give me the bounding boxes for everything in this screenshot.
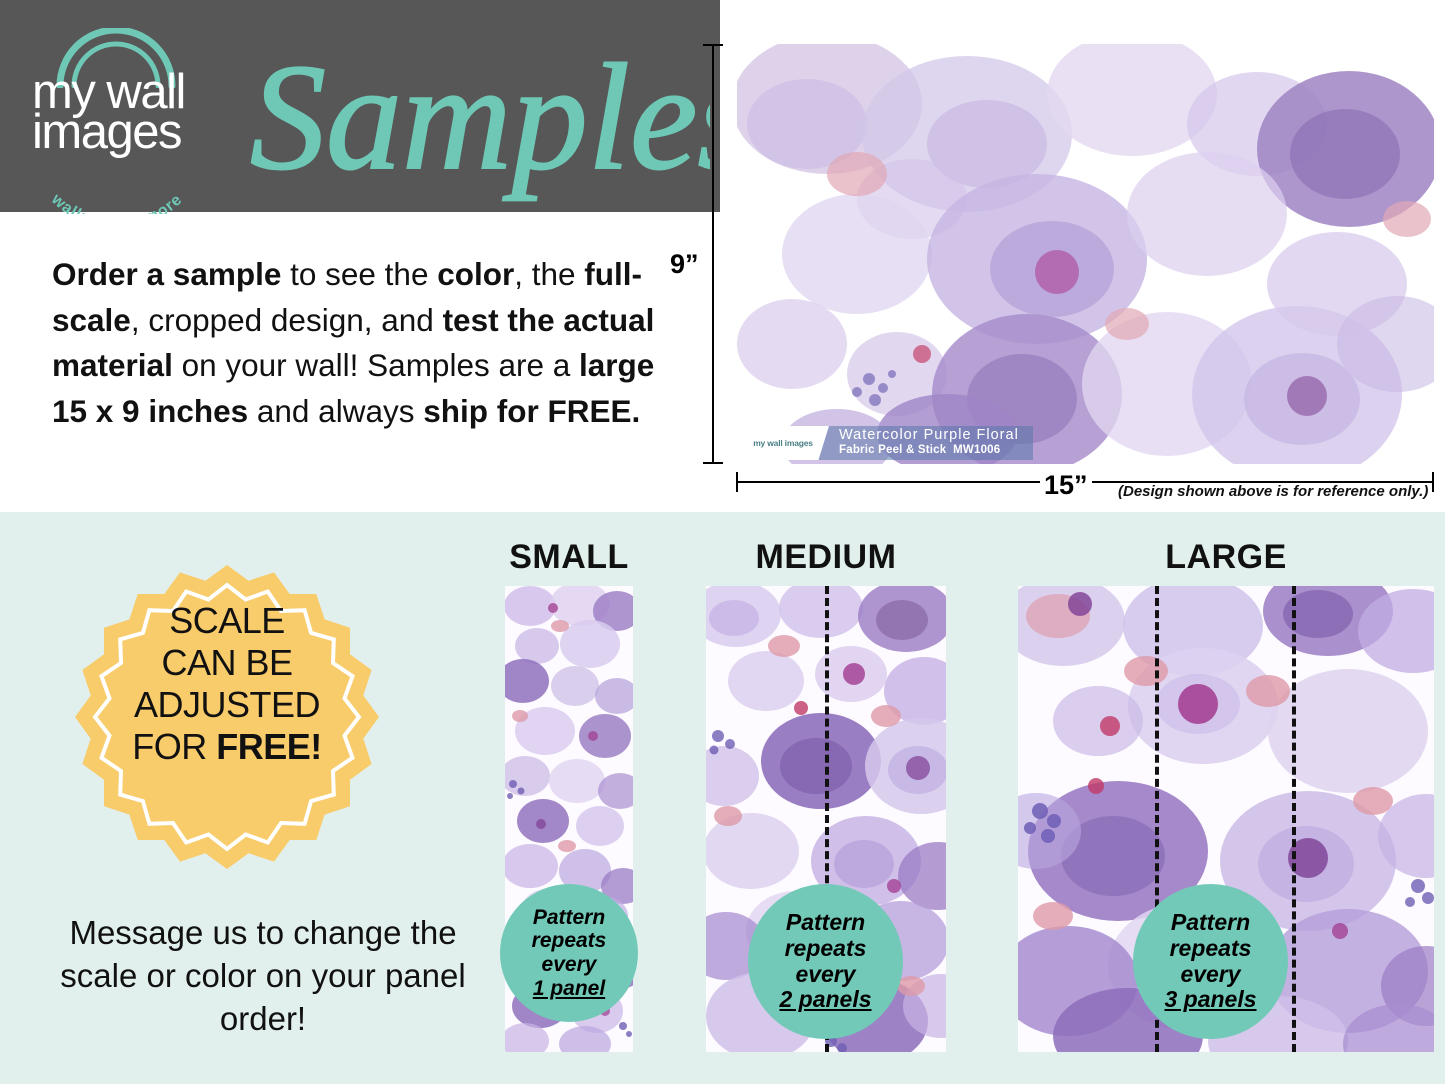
repeat-badge-small-line3: every xyxy=(542,953,597,977)
repeat-badge-small-value: 1 panel xyxy=(533,977,605,1001)
samples-script-text: Samples xyxy=(250,33,710,201)
repeat-badge-small-line1: Pattern xyxy=(533,906,605,930)
repeat-badge-large-line2: repeats xyxy=(1170,936,1252,962)
scale-adjust-badge-text: SCALE CAN BE ADJUSTED FOR FREE! xyxy=(72,600,382,768)
burst-line-4: FOR FREE! xyxy=(72,726,382,768)
width-dimension-cap-left xyxy=(736,472,738,492)
repeat-badge-medium: Pattern repeats every 2 panels xyxy=(748,884,903,1039)
copy-text-3: , cropped design, and xyxy=(131,302,443,338)
product-label-text: Watercolor Purple Floral Fabric Peel & S… xyxy=(829,426,1019,460)
repeat-badge-large-line3: every xyxy=(1180,962,1240,988)
brand-tagline: wallpaper + more xyxy=(22,174,212,214)
header-banner: my wall images wallpaper + more Samples xyxy=(0,0,720,212)
repeat-badge-large-value: 3 panels xyxy=(1164,987,1256,1013)
burst-line-2: CAN BE xyxy=(72,642,382,684)
panel-divider-large-2 xyxy=(1292,586,1296,1052)
size-heading-small: SMALL xyxy=(505,538,633,577)
height-dimension-cap-top xyxy=(703,44,723,46)
repeat-badge-medium-value: 2 panels xyxy=(779,987,871,1013)
product-name: Watercolor Purple Floral xyxy=(839,428,1019,443)
repeat-badge-medium-line2: repeats xyxy=(785,936,867,962)
sample-preview: my wall images Watercolor Purple Floral … xyxy=(737,44,1434,464)
message-us-text: Message us to change the scale or color … xyxy=(38,912,488,1041)
burst-line-4-plain: FOR xyxy=(132,726,216,767)
product-sku: MW1006 xyxy=(953,444,1000,456)
sample-product-label: my wall images Watercolor Purple Floral … xyxy=(741,426,1033,460)
size-heading-large: LARGE xyxy=(1018,538,1434,577)
copy-text-1: to see the xyxy=(281,256,437,292)
copy-text-5: and always xyxy=(248,393,423,429)
repeat-badge-small-line2: repeats xyxy=(532,929,607,953)
size-heading-medium: MEDIUM xyxy=(706,538,946,577)
product-label-logo: my wall images xyxy=(741,426,829,460)
watercolor-floral-artwork xyxy=(737,44,1434,464)
product-material-sku: Fabric Peel & Stick MW1006 xyxy=(839,443,1019,458)
copy-bold-color: color xyxy=(437,256,514,292)
copy-bold-ship-free: ship for FREE. xyxy=(423,393,640,429)
sample-description: Order a sample to see the color, the ful… xyxy=(52,252,672,435)
height-dimension-line xyxy=(712,44,714,464)
product-material: Fabric Peel & Stick xyxy=(839,444,946,456)
brand-logo: my wall images wallpaper + more xyxy=(22,26,212,196)
brand-wordmark: my wall images xyxy=(32,72,208,152)
width-dimension-cap-right xyxy=(1432,472,1434,492)
product-label-logo-text: my wall images xyxy=(753,438,813,448)
repeat-badge-medium-line3: every xyxy=(795,962,855,988)
burst-line-1: SCALE xyxy=(72,600,382,642)
burst-line-3: ADJUSTED xyxy=(72,684,382,726)
samples-script-title: Samples xyxy=(240,18,710,213)
copy-text-2: , the xyxy=(514,256,584,292)
repeat-badge-large: Pattern repeats every 3 panels xyxy=(1133,884,1288,1039)
svg-text:wallpaper + more: wallpaper + more xyxy=(47,190,186,214)
sample-pattern-image xyxy=(737,44,1434,464)
repeat-badge-medium-line1: Pattern xyxy=(786,910,865,936)
width-dimension-label: 15” xyxy=(1040,470,1092,501)
burst-line-4-bold: FREE! xyxy=(216,726,322,767)
reference-note: (Design shown above is for reference onl… xyxy=(1118,483,1428,500)
height-dimension-label: 9” xyxy=(668,245,701,284)
copy-text-4: on your wall! Samples are a xyxy=(173,347,579,383)
height-dimension-cap-bottom xyxy=(703,462,723,464)
repeat-badge-small: Pattern repeats every 1 panel xyxy=(500,884,638,1022)
repeat-badge-large-line1: Pattern xyxy=(1171,910,1250,936)
copy-bold-order-a-sample: Order a sample xyxy=(52,256,281,292)
